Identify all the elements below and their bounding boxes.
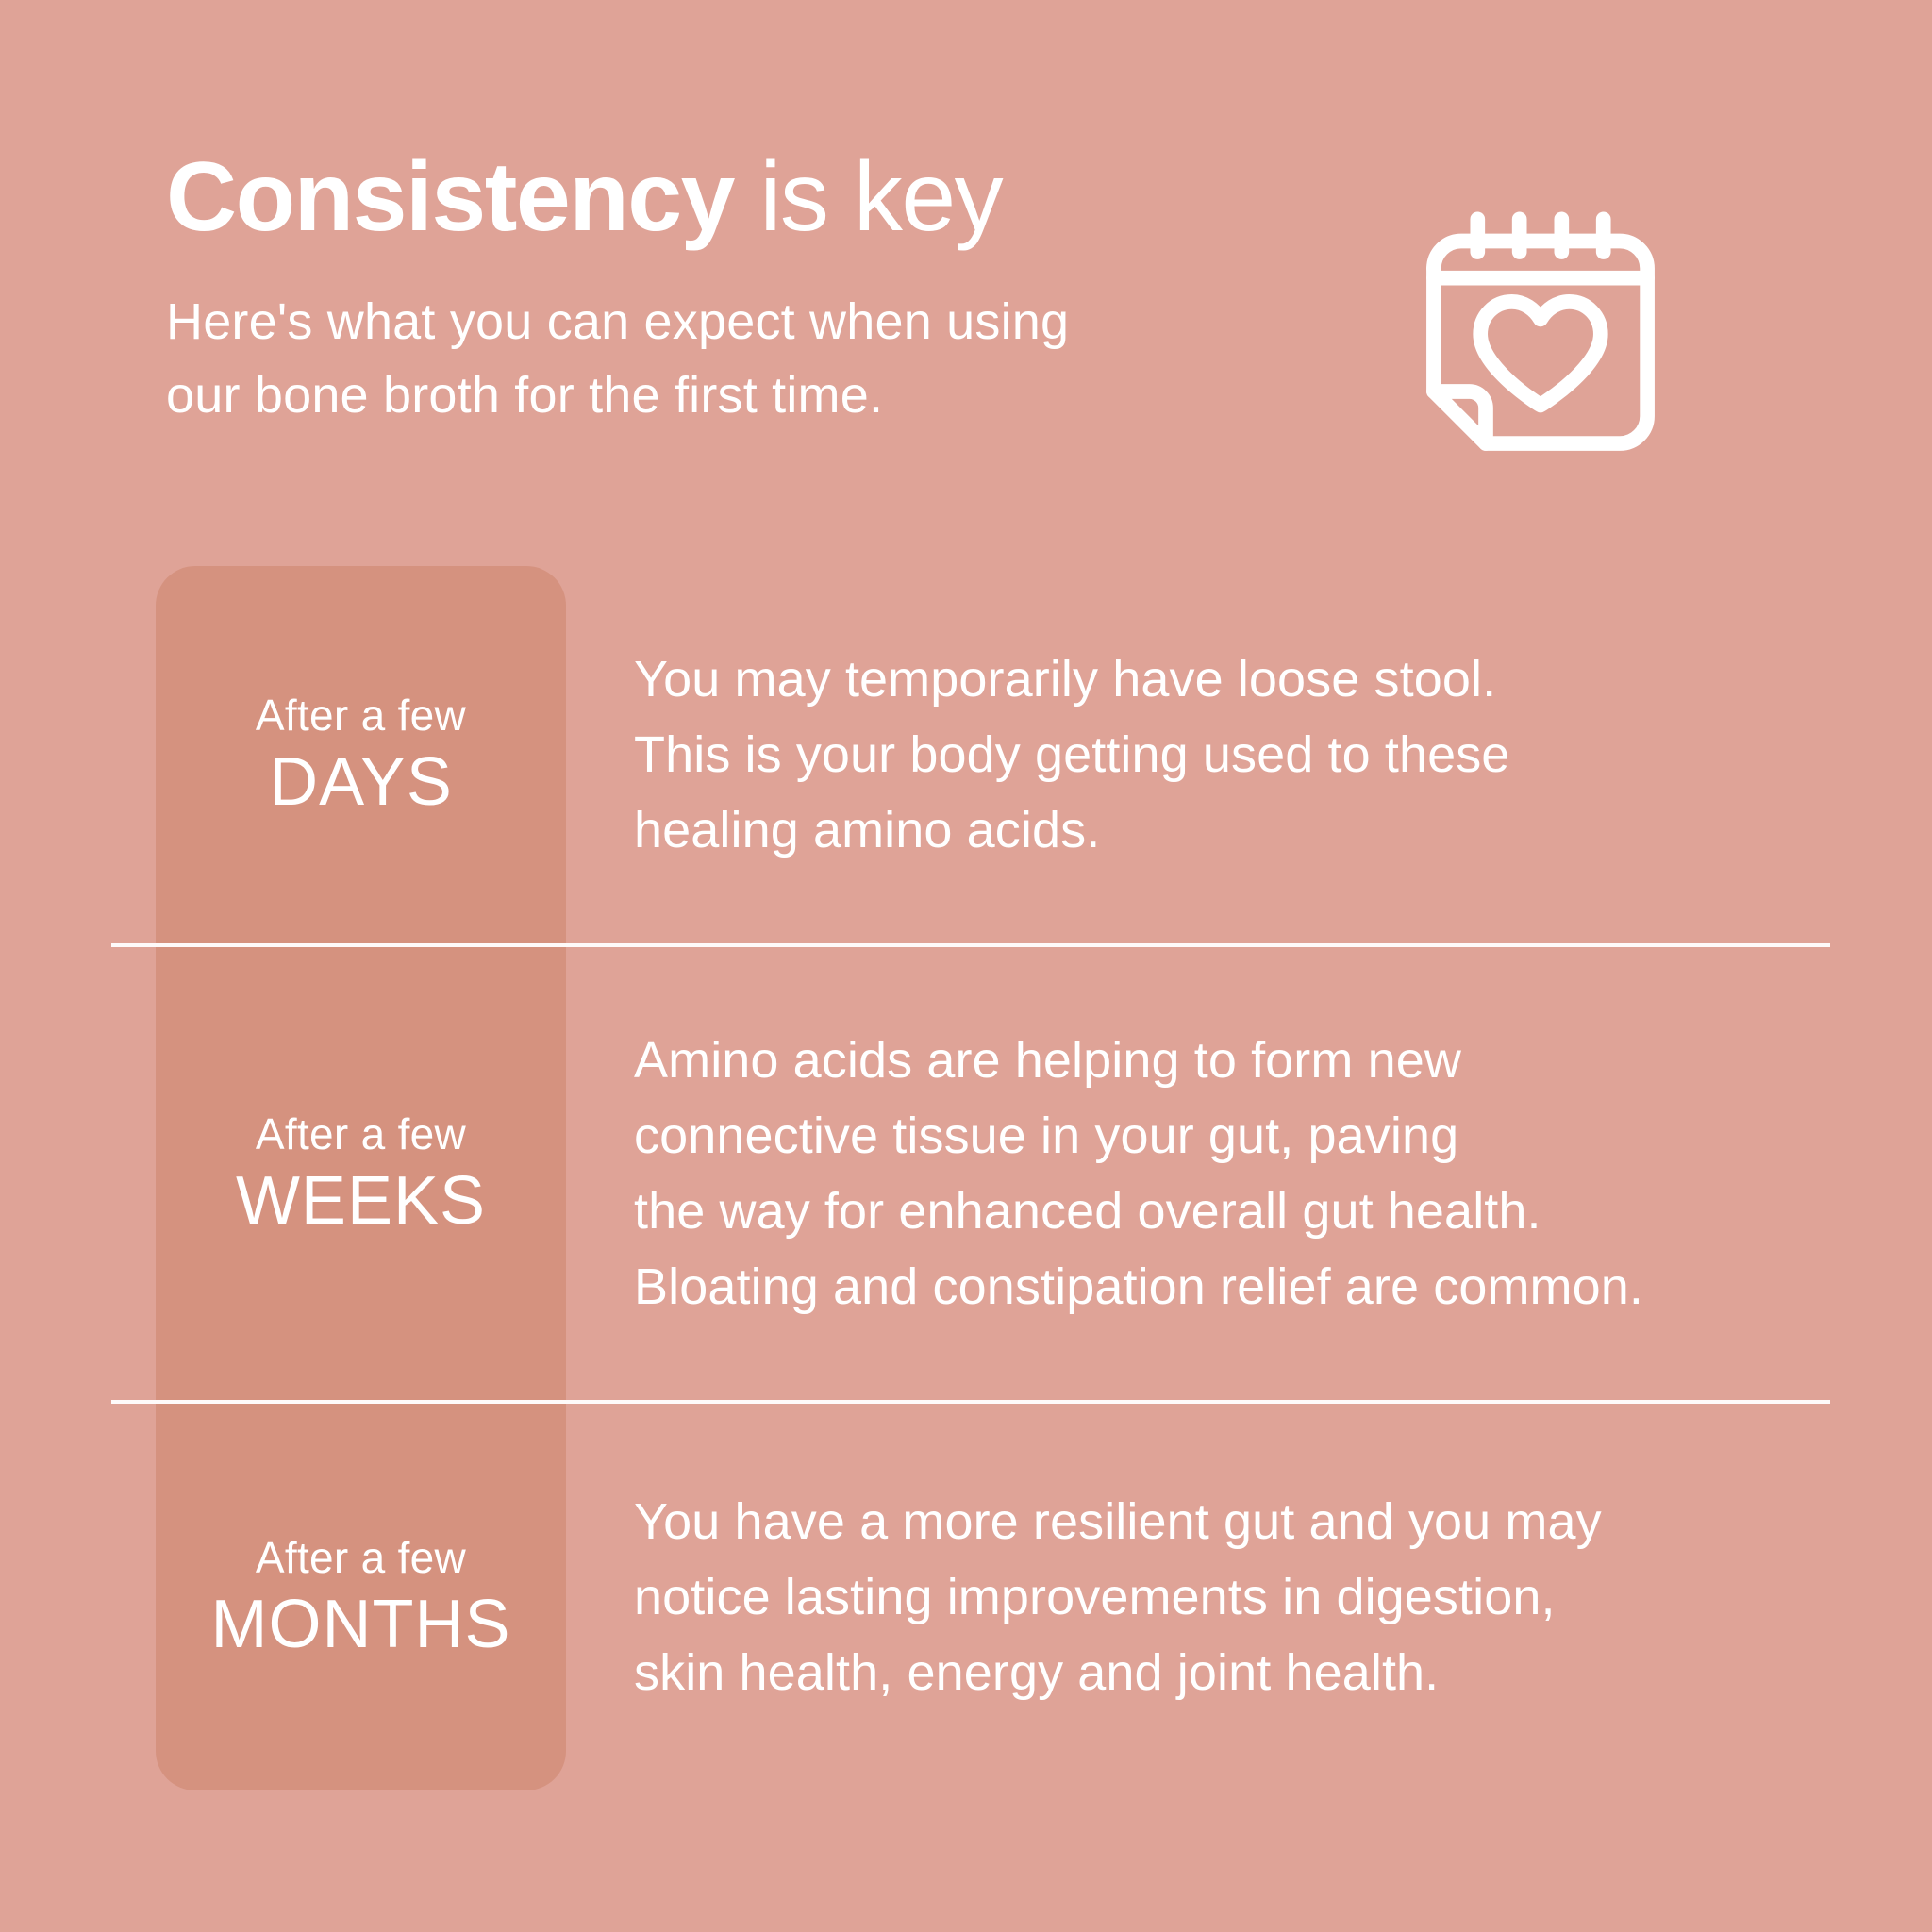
timeline-label-unit: WEEKS — [236, 1161, 486, 1241]
page-title-strong: Consistency — [166, 142, 734, 252]
page-subtitle: Here's what you can expect when using ou… — [166, 253, 1279, 432]
timeline-row-weeks: After a few WEEKS Amino acids are helpin… — [0, 947, 1932, 1400]
timeline-label-unit: DAYS — [269, 742, 453, 822]
timeline-row-months: After a few MONTHS You have a more resil… — [0, 1404, 1932, 1790]
header: Consistency is key Here's what you can e… — [0, 0, 1932, 528]
page-title-light: is key — [734, 142, 1002, 252]
timeline-body-line: notice lasting improvements in digestion… — [634, 1559, 1602, 1635]
timeline-body-line: You have a more resilient gut and you ma… — [634, 1484, 1602, 1559]
timeline-row-days: After a few DAYS You may temporarily hav… — [0, 566, 1932, 943]
page-subtitle-line-1: Here's what you can expect when using — [166, 285, 1279, 358]
timeline-body-months: You have a more resilient gut and you ma… — [566, 1404, 1932, 1790]
timeline-label-unit: MONTHS — [211, 1585, 511, 1664]
timeline-body-weeks: Amino acids are helping to form new conn… — [566, 947, 1932, 1400]
timeline-body-line: healing amino acids. — [634, 792, 1509, 868]
timeline-body-text: Amino acids are helping to form new conn… — [634, 1023, 1643, 1324]
timeline-body-days: You may temporarily have loose stool. Th… — [566, 566, 1932, 943]
page-title: Consistency is key — [166, 142, 1279, 253]
timeline-label-prefix: After a few — [256, 1107, 466, 1161]
page-subtitle-line-2: our bone broth for the first time. — [166, 358, 1279, 432]
timeline-body-line: Bloating and constipation relief are com… — [634, 1249, 1643, 1324]
timeline: After a few DAYS You may temporarily hav… — [0, 566, 1932, 1790]
timeline-body-line: skin health, energy and joint health. — [634, 1635, 1602, 1710]
timeline-label-card-weeks: After a few WEEKS — [156, 947, 566, 1400]
timeline-label-card-days: After a few DAYS — [156, 566, 566, 943]
timeline-body-text: You have a more resilient gut and you ma… — [634, 1484, 1602, 1710]
timeline-body-line: You may temporarily have loose stool. — [634, 641, 1509, 717]
timeline-body-line: This is your body getting used to these — [634, 717, 1509, 792]
timeline-body-line: connective tissue in your gut, paving — [634, 1098, 1643, 1174]
timeline-label-card-months: After a few MONTHS — [156, 1404, 566, 1790]
timeline-body-text: You may temporarily have loose stool. Th… — [634, 641, 1509, 868]
header-text-block: Consistency is key Here's what you can e… — [166, 142, 1279, 432]
calendar-heart-icon — [1404, 200, 1677, 474]
timeline-label-prefix: After a few — [256, 1530, 466, 1585]
timeline-label-prefix: After a few — [256, 688, 466, 742]
timeline-body-line: Amino acids are helping to form new — [634, 1023, 1643, 1098]
timeline-body-line: the way for enhanced overall gut health. — [634, 1174, 1643, 1249]
